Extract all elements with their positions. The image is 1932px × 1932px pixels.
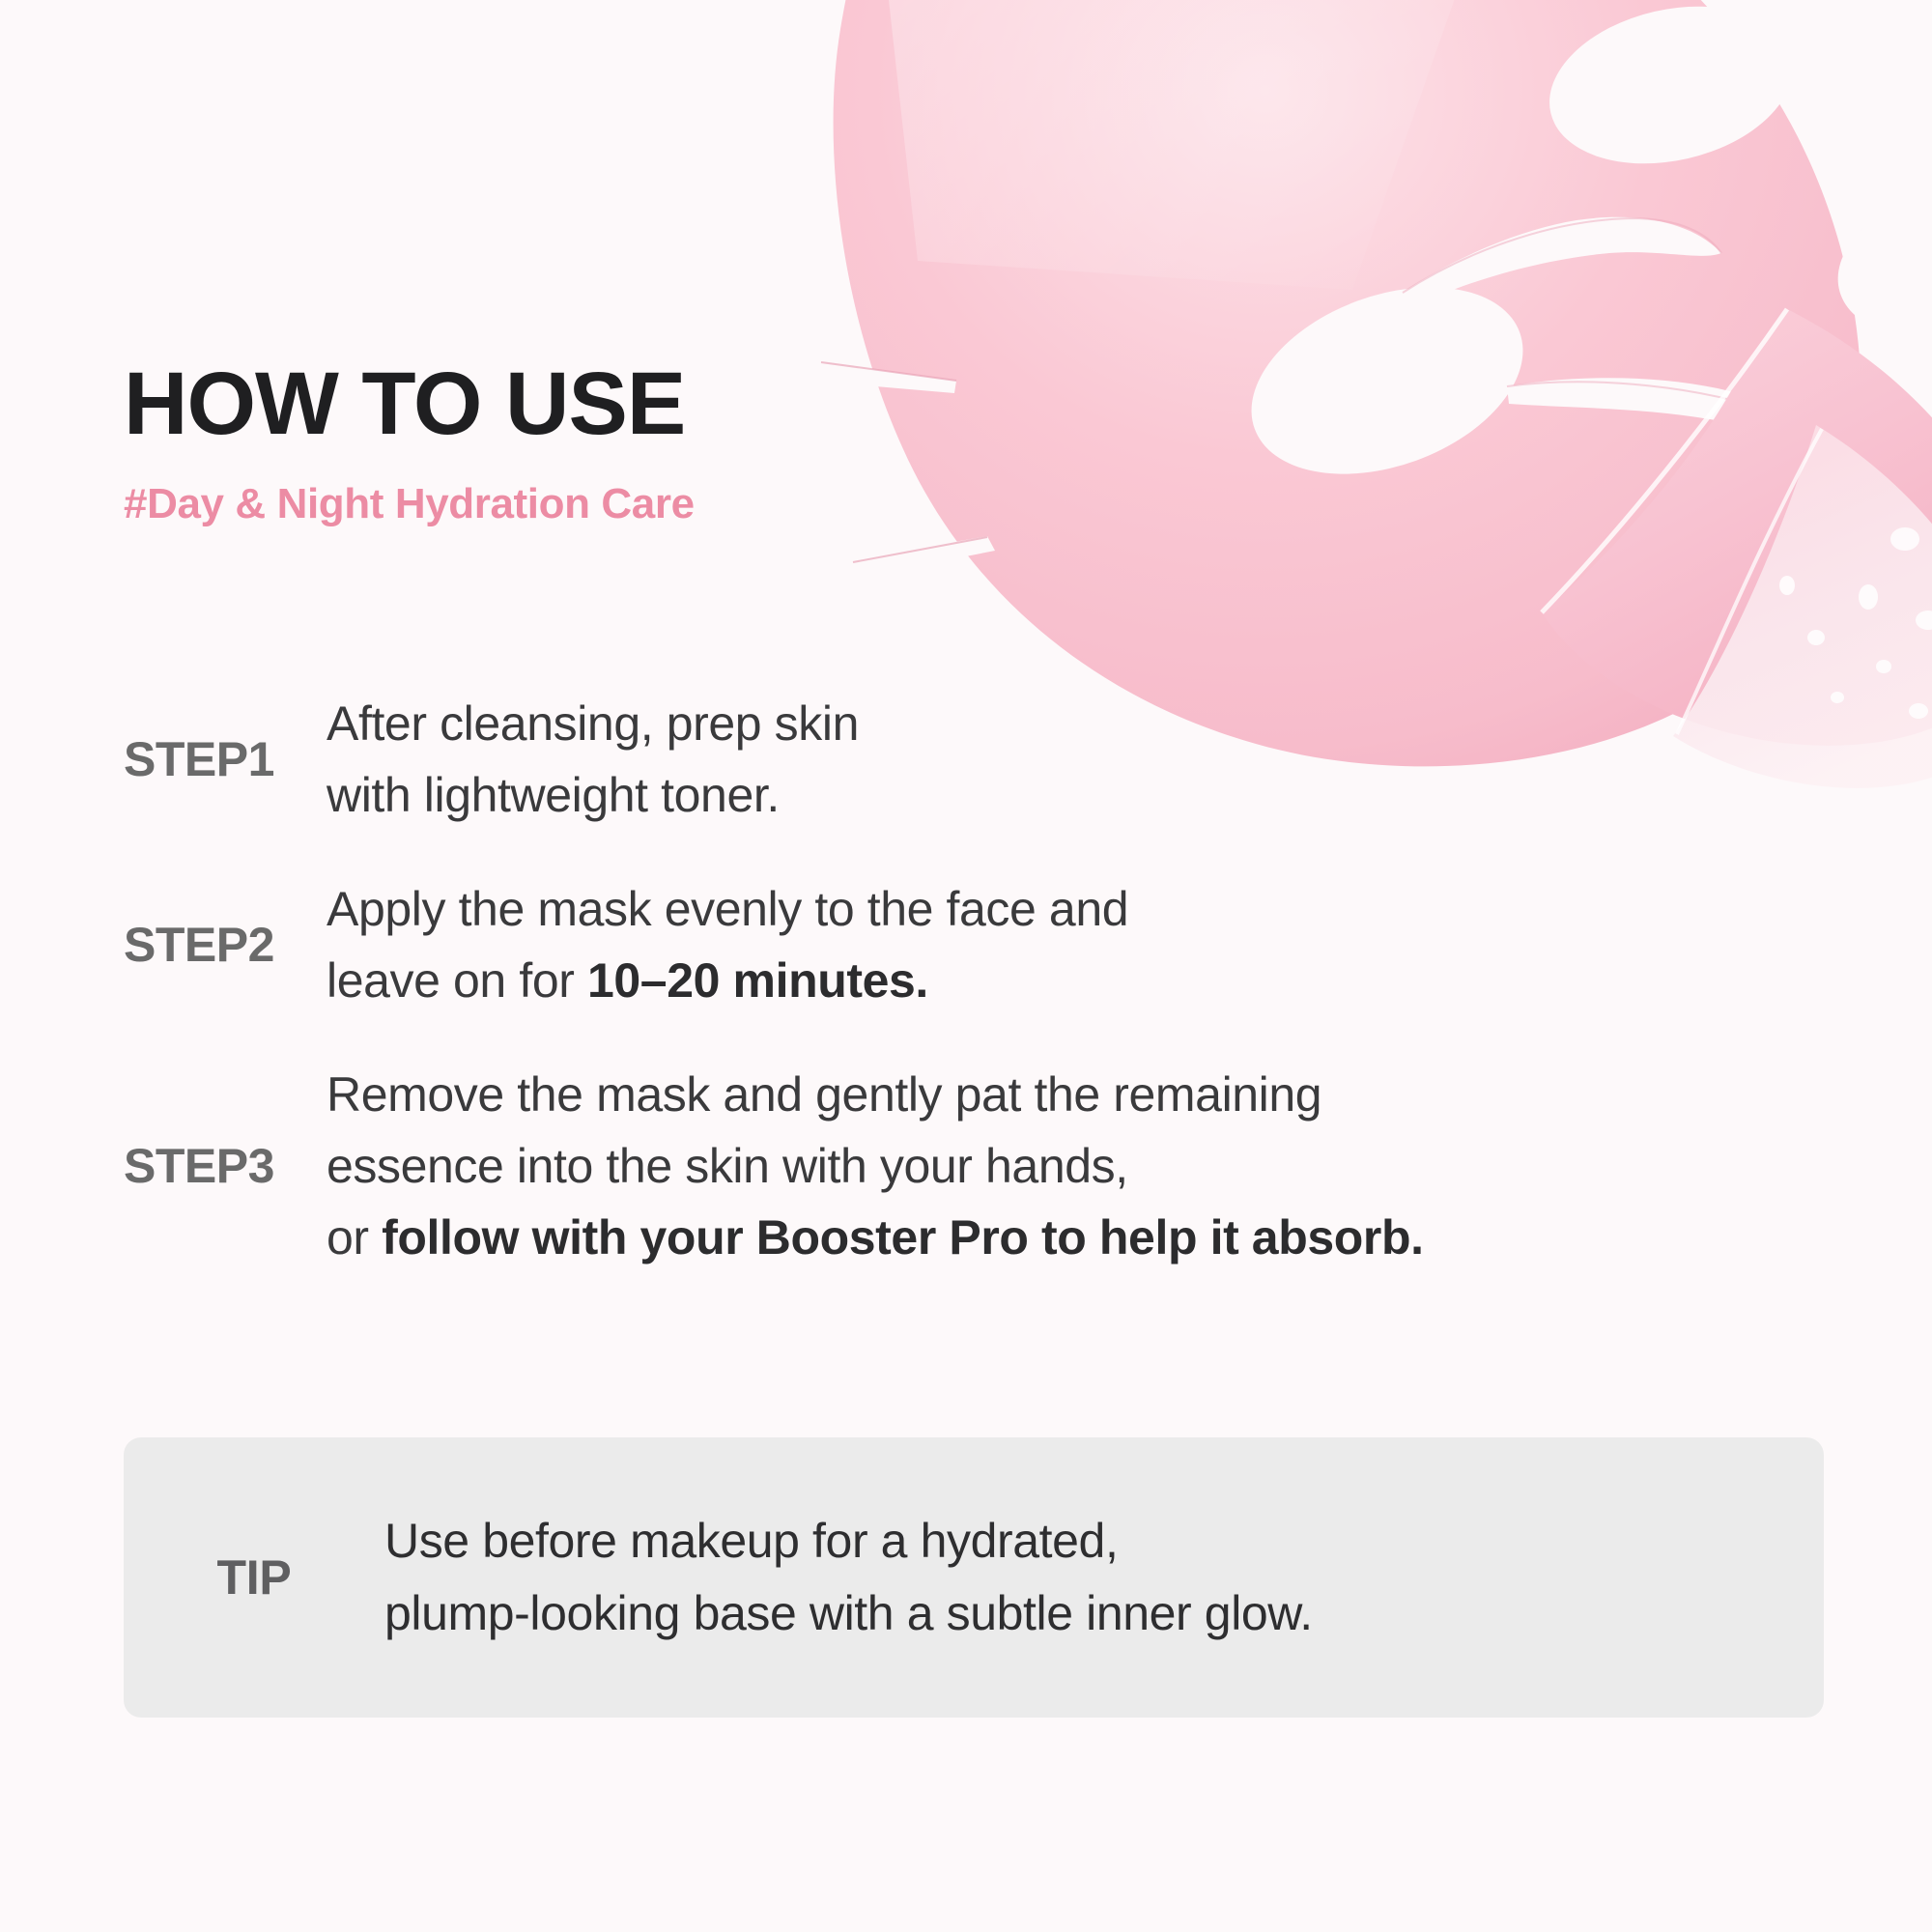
steps-list: STEP1 After cleansing, prep skin with li… xyxy=(124,688,1853,1273)
step-text: or xyxy=(327,1210,382,1264)
step-text-emphasis: 10–20 minutes. xyxy=(587,953,928,1008)
tip-body: Use before makeup for a hydrated, plump-… xyxy=(384,1505,1824,1650)
tip-line: Use before makeup for a hydrated, xyxy=(384,1505,1824,1577)
header: HOW TO USE #Day & Night Hydration Care xyxy=(124,359,695,526)
step-line: Apply the mask evenly to the face and xyxy=(327,873,1853,945)
step-text: Remove the mask and gently pat the remai… xyxy=(327,1067,1321,1122)
step-row: STEP2 Apply the mask evenly to the face … xyxy=(124,873,1853,1016)
step-text: Apply the mask evenly to the face and xyxy=(327,882,1128,936)
tip-line: plump-looking base with a subtle inner g… xyxy=(384,1577,1824,1650)
step-body-3: Remove the mask and gently pat the remai… xyxy=(327,1059,1853,1273)
mask-side-notches xyxy=(820,362,995,578)
mask-eye-opening-right xyxy=(1820,161,1932,360)
step-body-1: After cleansing, prep skin with lightwei… xyxy=(327,688,1853,831)
step-line: with lightweight toner. xyxy=(327,759,1853,831)
page-subtitle: #Day & Night Hydration Care xyxy=(124,483,695,526)
tip-box: TIP Use before makeup for a hydrated, pl… xyxy=(124,1437,1824,1718)
mask-nose-cut xyxy=(1403,217,1847,448)
page-title: HOW TO USE xyxy=(124,359,695,448)
step-line: essence into the skin with your hands, xyxy=(327,1130,1853,1202)
step-label-2: STEP2 xyxy=(124,919,327,972)
step-label-3: STEP3 xyxy=(124,1140,327,1193)
step-label-1: STEP1 xyxy=(124,733,327,786)
step-row: STEP1 After cleansing, prep skin with li… xyxy=(124,688,1853,831)
step-line: or follow with your Booster Pro to help … xyxy=(327,1202,1853,1273)
step-text: After cleansing, prep skin xyxy=(327,696,859,751)
step-text: with lightweight toner. xyxy=(327,768,780,822)
step-body-2: Apply the mask evenly to the face and le… xyxy=(327,873,1853,1016)
step-line: After cleansing, prep skin xyxy=(327,688,1853,759)
mask-body xyxy=(820,0,1932,766)
step-line: Remove the mask and gently pat the remai… xyxy=(327,1059,1853,1130)
step-row: STEP3 Remove the mask and gently pat the… xyxy=(124,1059,1853,1273)
tip-label: TIP xyxy=(124,1549,384,1605)
step-text-emphasis: follow with your Booster Pro to help it … xyxy=(382,1210,1423,1264)
mask-eye-opening-left xyxy=(1534,0,1809,186)
step-line: leave on for 10–20 minutes. xyxy=(327,945,1853,1016)
mask-mouth-opening xyxy=(1226,252,1549,508)
step-text: essence into the skin with your hands, xyxy=(327,1139,1128,1193)
step-text: leave on for xyxy=(327,953,587,1008)
mask-folded-flap xyxy=(1542,309,1932,746)
